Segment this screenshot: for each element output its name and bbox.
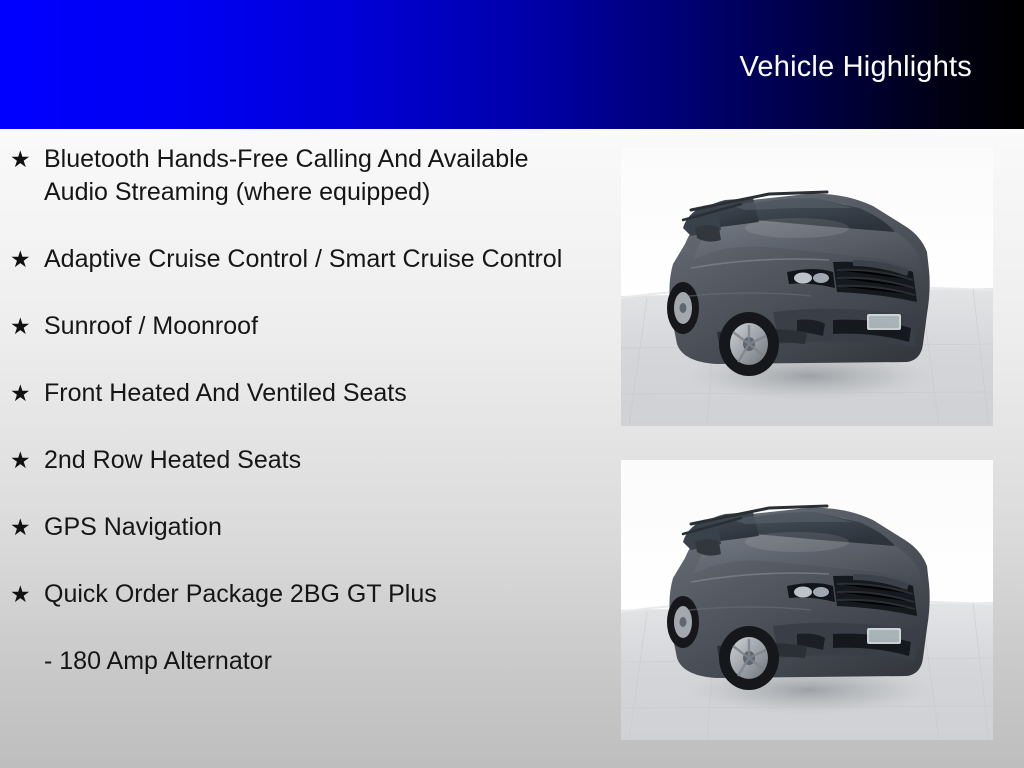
vehicle-photo-top-image (621, 148, 993, 426)
list-item-label: 2nd Row Heated Seats (44, 446, 301, 474)
star-bullet-icon: ★ (10, 444, 31, 477)
list-item: ★ Bluetooth Hands-Free Calling And Avail… (0, 143, 564, 209)
slide-canvas: Vehicle Highlights ★ Bluetooth Hands-Fre… (0, 0, 1024, 768)
star-bullet-icon: ★ (10, 243, 31, 276)
star-bullet-icon: ★ (10, 310, 31, 343)
star-bullet-icon: ★ (10, 143, 31, 176)
list-item-label: Adaptive Cruise Control / Smart Cruise C… (44, 245, 562, 273)
star-bullet-icon: ★ (10, 511, 31, 544)
vehicle-photo-bottom-image (621, 460, 993, 740)
vehicle-highlights-list: ★ Bluetooth Hands-Free Calling And Avail… (0, 143, 600, 678)
slide-header-band: Vehicle Highlights (0, 0, 1024, 129)
list-sub-item: - 180 Amp Alternator (0, 645, 600, 678)
list-item-label: Front Heated And Ventiled Seats (44, 379, 407, 407)
list-item: ★ Sunroof / Moonroof (0, 310, 564, 343)
page-title: Vehicle Highlights (739, 50, 972, 84)
list-item-label: GPS Navigation (44, 513, 222, 541)
list-item: ★ Quick Order Package 2BG GT Plus (0, 578, 564, 611)
list-item-label: Quick Order Package 2BG GT Plus (44, 580, 437, 608)
list-item-label: Bluetooth Hands-Free Calling And Availab… (44, 145, 529, 206)
list-item: ★ Adaptive Cruise Control / Smart Cruise… (0, 243, 564, 276)
star-bullet-icon: ★ (10, 377, 31, 410)
list-item-label: Sunroof / Moonroof (44, 312, 258, 340)
vehicle-photo-top[interactable] (621, 148, 993, 426)
list-item: ★ 2nd Row Heated Seats (0, 444, 564, 477)
list-item: ★ GPS Navigation (0, 511, 564, 544)
list-sub-item-label: - 180 Amp Alternator (44, 647, 272, 675)
vehicle-photo-bottom[interactable] (621, 460, 993, 740)
list-item: ★ Front Heated And Ventiled Seats (0, 377, 564, 410)
star-bullet-icon: ★ (10, 578, 31, 611)
